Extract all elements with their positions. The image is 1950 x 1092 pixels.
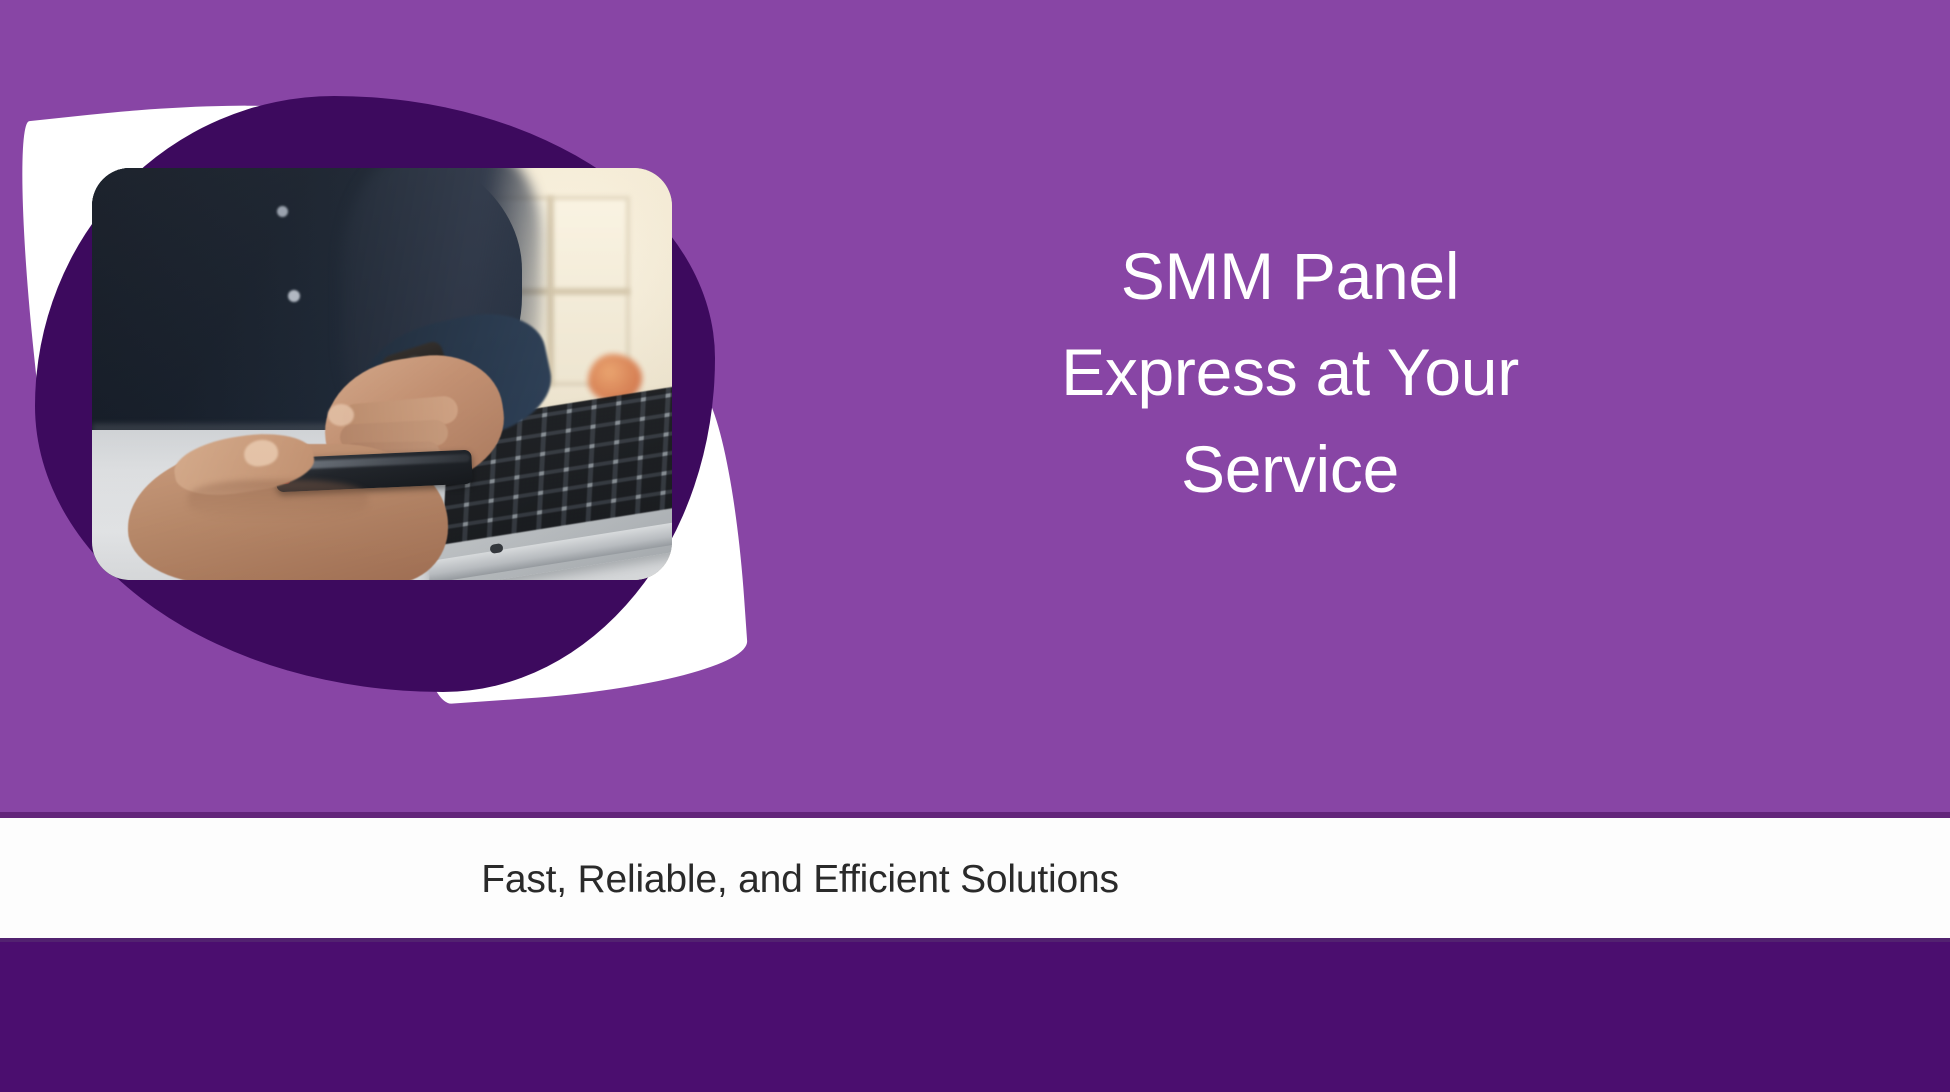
photo-left-hand-knuckle-shadow bbox=[188, 480, 368, 520]
page-title: SMM Panel Express at Your Service bbox=[860, 228, 1720, 517]
footer-bar bbox=[0, 942, 1950, 1092]
photo-shirt-button-upper bbox=[277, 206, 288, 217]
photo-right-hand-fingernail bbox=[328, 404, 354, 426]
subtitle-text: Fast, Reliable, and Efficient Solutions bbox=[481, 858, 1119, 902]
photo-shirt-button-lower bbox=[288, 290, 300, 302]
hero-photo bbox=[92, 168, 672, 580]
subtitle-container: Fast, Reliable, and Efficient Solutions bbox=[0, 818, 1950, 942]
slide-canvas: SMM Panel Express at Your Service Fast, … bbox=[0, 0, 1950, 1092]
